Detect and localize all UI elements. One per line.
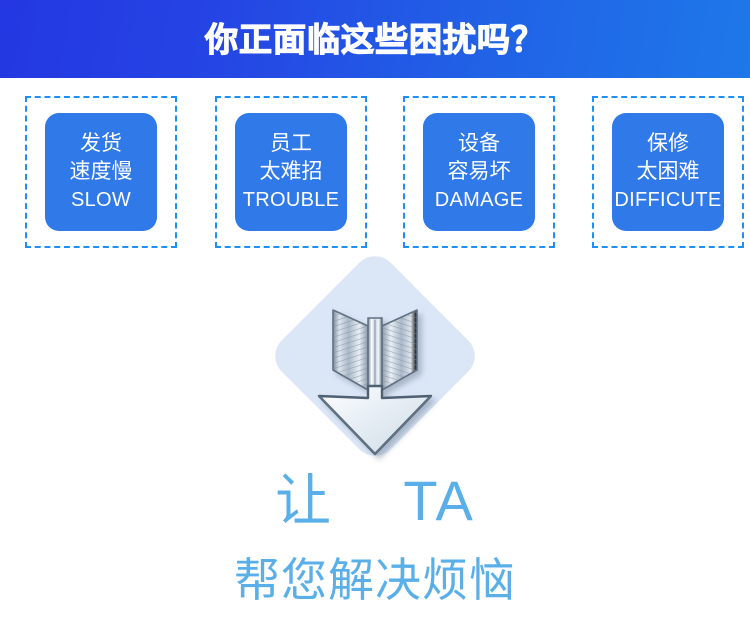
diamond-backdrop bbox=[267, 248, 483, 464]
card-line-2: 太困难 bbox=[637, 158, 700, 186]
card-line-1: 设备 bbox=[458, 130, 500, 158]
pain-point-card-trouble[interactable]: 员工 太难招 TROUBLE bbox=[215, 96, 367, 248]
down-arrow-dart-icon bbox=[267, 248, 483, 464]
card-body: 设备 容易坏 DAMAGE bbox=[423, 113, 535, 231]
card-body: 保修 太困难 DIFFICUTE bbox=[612, 113, 724, 231]
card-line-2: 太难招 bbox=[260, 158, 323, 186]
card-line-1: 保修 bbox=[647, 130, 689, 158]
card-line-2: 速度慢 bbox=[70, 158, 133, 186]
card-line-3: TROUBLE bbox=[243, 186, 340, 214]
tagline-primary: 让 TA bbox=[0, 468, 750, 534]
card-body: 员工 太难招 TROUBLE bbox=[235, 113, 347, 231]
pain-point-card-damage[interactable]: 设备 容易坏 DAMAGE bbox=[403, 96, 555, 248]
pain-point-card-slow[interactable]: 发货 速度慢 SLOW bbox=[25, 96, 177, 248]
page-title: 你正面临这些困扰吗？ bbox=[205, 23, 545, 56]
card-line-2: 容易坏 bbox=[448, 158, 511, 186]
card-line-3: SLOW bbox=[71, 186, 131, 214]
card-body: 发货 速度慢 SLOW bbox=[45, 113, 157, 231]
pain-point-card-list: 发货 速度慢 SLOW 员工 太难招 TROUBLE 设备 容易坏 DAMAGE… bbox=[0, 96, 750, 256]
hero-graphic bbox=[0, 240, 750, 485]
header-banner: 你正面临这些困扰吗？ bbox=[0, 0, 750, 78]
card-line-3: DIFFICUTE bbox=[614, 186, 721, 214]
card-line-3: DAMAGE bbox=[435, 186, 523, 214]
promo-banner: 你正面临这些困扰吗？ 发货 速度慢 SLOW 员工 太难招 TROUBLE 设备… bbox=[0, 0, 750, 643]
tagline-secondary: 帮您解决烦恼 bbox=[0, 552, 750, 608]
pain-point-card-difficult[interactable]: 保修 太困难 DIFFICUTE bbox=[592, 96, 744, 248]
card-line-1: 员工 bbox=[270, 130, 312, 158]
card-line-1: 发货 bbox=[80, 130, 122, 158]
